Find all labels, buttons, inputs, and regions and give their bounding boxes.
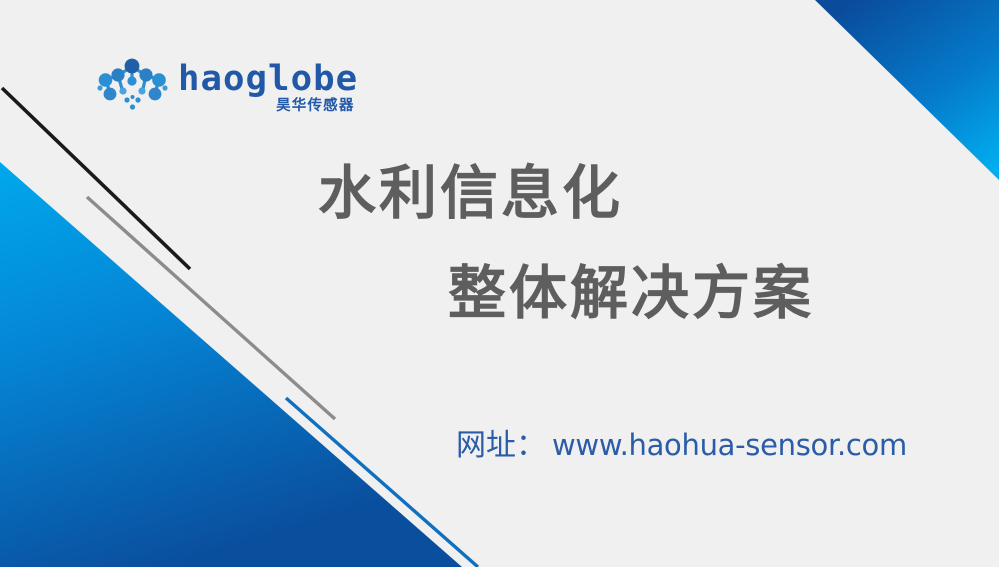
logo-wordmark: haoglobe [178, 63, 358, 97]
website-line: 网址： www.haohua-sensor.com [456, 420, 907, 464]
gray-diagonal-line [87, 197, 335, 419]
right-blue-triangle [815, 0, 999, 180]
logo-text-block: haoglobe 昊华传感器 [178, 57, 355, 113]
website-label: 网址： [456, 420, 546, 464]
company-logo: haoglobe 昊华传感器 [96, 57, 355, 115]
haoglobe-network-dots-icon [96, 57, 170, 115]
title-line-2: 整体解决方案 [448, 260, 814, 327]
blue-diagonal-line [286, 398, 478, 567]
presentation-title-slide: haoglobe 昊华传感器 水利信息化 整体解决方案 网址： www.haoh… [0, 0, 999, 567]
black-diagonal-line [2, 88, 190, 269]
website-url[interactable]: www.haohua-sensor.com [552, 428, 907, 462]
logo-chinese-name: 昊华传感器 [276, 99, 355, 114]
title-line-1: 水利信息化 [318, 160, 623, 227]
